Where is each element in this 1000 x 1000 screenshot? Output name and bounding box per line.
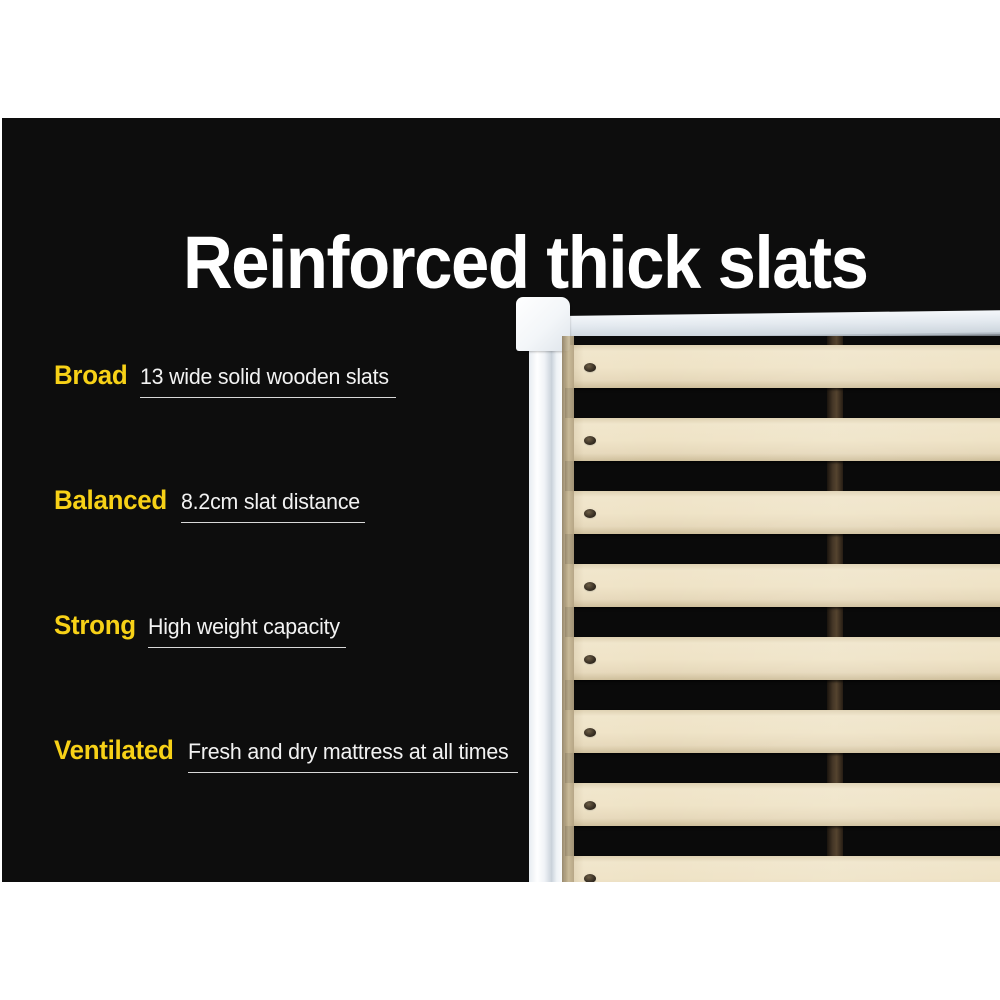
- feature-underline-strong: High weight capacity: [148, 614, 346, 648]
- slat-screw: [584, 801, 596, 810]
- wooden-slat: [562, 856, 1000, 882]
- slat-screw: [584, 363, 596, 372]
- wooden-slat: [562, 491, 1000, 534]
- feature-description-balanced: 8.2cm slat distance: [181, 489, 360, 515]
- wooden-slat: [562, 418, 1000, 461]
- wooden-slat: [562, 345, 1000, 388]
- product-photo-bed-slats: [510, 118, 1000, 882]
- feature-label-broad: Broad: [54, 360, 127, 391]
- feature-list: Broad 13 wide solid wooden slats Balance…: [54, 360, 524, 860]
- wooden-slat: [562, 710, 1000, 753]
- slat-screw: [584, 728, 596, 737]
- wooden-slat: [562, 783, 1000, 826]
- feature-underline-ventilated: Fresh and dry mattress at all times: [188, 739, 518, 773]
- feature-label-strong: Strong: [54, 610, 136, 641]
- feature-item-broad: Broad 13 wide solid wooden slats: [54, 360, 524, 485]
- wooden-slat: [562, 637, 1000, 680]
- slat-screw: [584, 436, 596, 445]
- slat-screw: [584, 655, 596, 664]
- feature-item-strong: Strong High weight capacity: [54, 610, 524, 735]
- feature-item-balanced: Balanced 8.2cm slat distance: [54, 485, 524, 610]
- infographic-panel: Reinforced thick slats Broad 13 wide sol…: [2, 118, 1000, 882]
- slat-screw: [584, 874, 596, 882]
- corner-post-leg: [529, 348, 551, 882]
- slat-deck: [562, 336, 1000, 882]
- feature-description-strong: High weight capacity: [148, 614, 340, 640]
- slat-screw: [584, 509, 596, 518]
- feature-description-ventilated: Fresh and dry mattress at all times: [188, 739, 509, 765]
- feature-label-balanced: Balanced: [54, 485, 167, 516]
- feature-item-ventilated: Ventilated Fresh and dry mattress at all…: [54, 735, 524, 860]
- feature-label-ventilated: Ventilated: [54, 735, 174, 766]
- slat-screw: [584, 582, 596, 591]
- wooden-slat: [562, 564, 1000, 607]
- feature-underline-broad: 13 wide solid wooden slats: [140, 364, 397, 398]
- feature-underline-balanced: 8.2cm slat distance: [181, 489, 366, 523]
- feature-description-broad: 13 wide solid wooden slats: [140, 364, 389, 390]
